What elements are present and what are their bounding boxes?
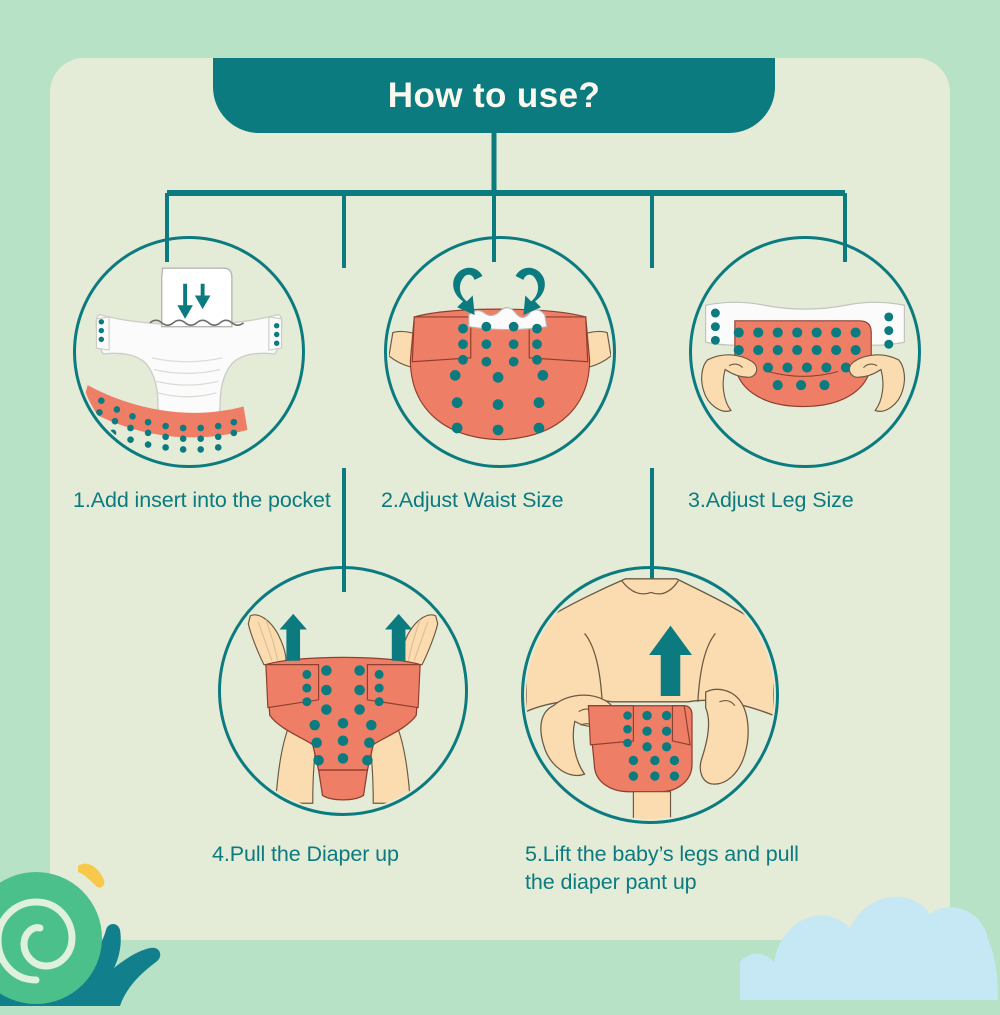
step-3-illustration: [689, 236, 921, 468]
page-title: How to use?: [388, 78, 600, 113]
step-1-caption: 1.Add insert into the pocket: [73, 486, 333, 514]
snail-decoration: [0, 830, 204, 1010]
title-banner: How to use?: [213, 58, 775, 133]
cloud-decoration: [740, 840, 1000, 1000]
infographic-root: How to use?: [0, 0, 1000, 1000]
step-5-illustration: [521, 566, 779, 824]
step-1-illustration: [73, 236, 305, 468]
step-2-illustration: [384, 236, 616, 468]
step-4-caption: 4.Pull the Diaper up: [212, 840, 492, 868]
step-2-caption: 2.Adjust Waist Size: [381, 486, 641, 514]
step-4-illustration: [218, 566, 468, 816]
step-3-caption: 3.Adjust Leg Size: [688, 486, 938, 514]
